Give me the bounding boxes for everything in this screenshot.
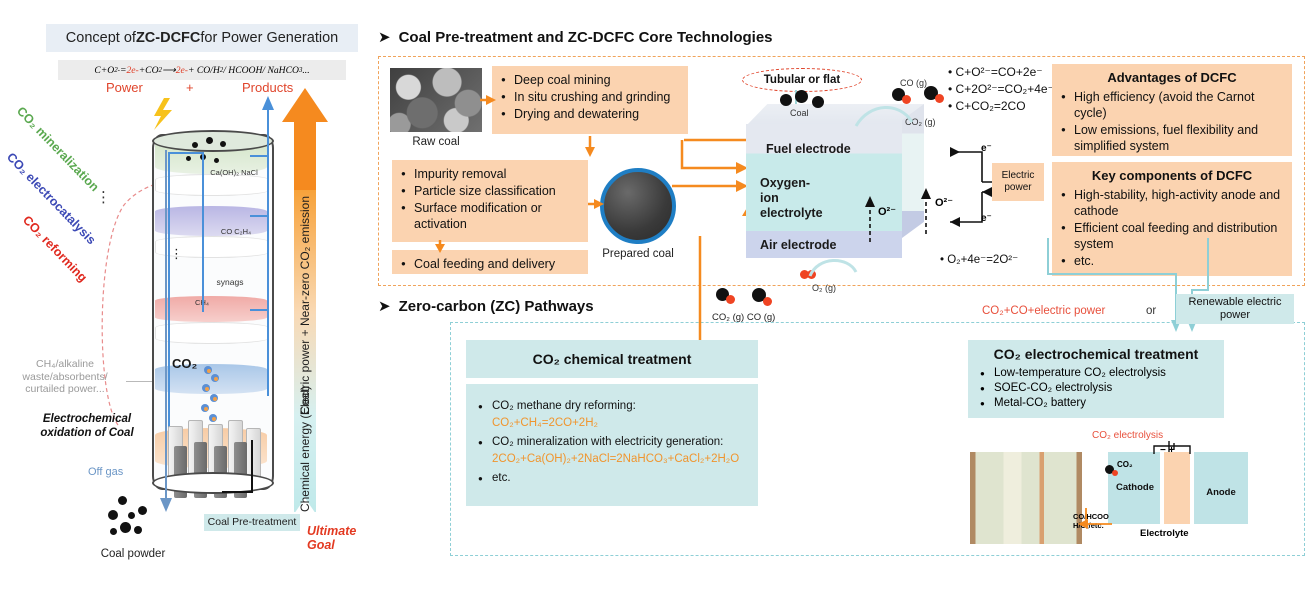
list-item: Metal-CO₂ battery [994, 396, 1216, 411]
coal-particle [780, 94, 792, 106]
o2-gas-label: O₂ (g) [812, 283, 836, 293]
advantages-box: Advantages of DCFC High efficiency (avoi… [1052, 64, 1292, 156]
electrolyte-compartment [1164, 452, 1190, 524]
eq-p3: +CO [139, 65, 159, 76]
raw-coal-image [390, 68, 482, 132]
eq-p6: ... [302, 65, 309, 76]
fuel-electrode-label: Fuel electrode [766, 142, 851, 156]
co2-molecule [201, 404, 209, 412]
eq-red1: 2e- [126, 65, 138, 76]
co2-molecule [204, 366, 212, 374]
section2-heading: ➤Zero-carbon (ZC) Pathways [378, 297, 594, 315]
list-item: High efficiency (avoid the Carnot cycle) [1074, 89, 1284, 121]
offgas-label: Off gas [88, 466, 123, 478]
ellipsis-left: ⋮ [96, 196, 111, 200]
coal-powder-label: Coal powder [78, 548, 188, 560]
coal-dot [220, 141, 226, 147]
coal-particle [812, 96, 824, 108]
concept-title: Concept of ZC-DCFC for Power Generation [46, 24, 358, 52]
electric-power-box: Electric power [992, 163, 1044, 201]
power-label: Power [106, 80, 143, 95]
electrochemical-oxidation-note: Electrochemical oxidation of Coal [28, 412, 146, 440]
feeding-bullets-box: Coal feeding and delivery [392, 250, 588, 274]
eq-p5: / HCOOH/ NaHCO [223, 65, 299, 76]
anode-label: Anode [1196, 487, 1246, 498]
co2-co-electric-power-label: CO₂+CO+electric power [982, 305, 1105, 317]
list-item: Low-temperature CO₂ electrolysis [994, 366, 1216, 381]
co2-molecule [209, 414, 217, 422]
arrow-rawcoal-to-mining [480, 92, 498, 108]
concept-title-suffix: for Power Generation [200, 30, 338, 46]
equation-line: • C+O²⁻=CO+2e⁻ [948, 64, 1054, 81]
products-arrow [256, 96, 280, 396]
product-outlet-arrow [1060, 500, 1116, 530]
list-item: Deep coal mining [514, 72, 680, 88]
co2-molecule [211, 374, 219, 382]
list-item: SOEC-CO₂ electrolysis [994, 381, 1216, 396]
arrow-mining-to-impurity [582, 136, 598, 158]
cathode-label: Cathode [1112, 482, 1158, 493]
list-item: Low emissions, fuel flexibility and simp… [1074, 122, 1284, 154]
arrow-impurity-to-feeding [432, 240, 448, 254]
coal-dot [214, 158, 219, 163]
cell-coal-label: Coal [790, 108, 809, 118]
eq-red2: 2e- [176, 65, 188, 76]
zone-label-synags: synags [206, 278, 254, 287]
energy-arrow-bottom-text: Chemical energy (Coal) [298, 386, 312, 512]
air-electrode-label: Air electrode [760, 238, 836, 252]
item-equation: 2CO₂+Ca(OH)₂+2NaCl=2NaHCO₃+CaCl₂+2H₂O [492, 451, 748, 468]
recycle-pipe [202, 152, 204, 312]
co2-electrochemical-treatment-box: CO₂ electrochemical treatment Low-temper… [968, 340, 1224, 418]
arrow-impurity-to-prepared [588, 196, 606, 212]
ultimate-goal-label: Ultimate Goal [307, 524, 372, 552]
overall-equation: C+O2-=2e-+CO2 ⟶ 2e- + CO/H2/ HCOOH/ NaHC… [58, 60, 346, 80]
plus-label: + [186, 80, 194, 95]
energy-arrow-head [282, 88, 328, 196]
or-label: or [1146, 305, 1156, 317]
raw-coal-label: Raw coal [386, 136, 486, 148]
coal-powder-cluster [104, 494, 168, 546]
co2-co-outlet-label: CO₂ (g) CO (g) [712, 312, 775, 323]
list-item: In situ crushing and grinding [514, 89, 680, 105]
o2-ion-label-a: O²⁻ [878, 205, 896, 218]
oxygen-ion-electrolyte-label: Oxygen-ionelectrolyte [760, 176, 823, 221]
zone-label-caoh-nacl: Ca(OH)₂ NaCl [210, 168, 258, 177]
equation-line: • C+2O²⁻=CO₂+4e⁻ [948, 81, 1054, 98]
advantages-title: Advantages of DCFC [1060, 70, 1284, 86]
lightning-icon [148, 98, 182, 132]
prepared-coal-label: Prepared coal [596, 248, 680, 261]
coal-pretreatment-label: Coal Pre-treatment [204, 514, 300, 531]
ch4-alkaline-note: CH₄/alkaline waste/absorbents/ curtailed… [4, 358, 126, 396]
equation-line: • C+CO₂=2CO [948, 98, 1054, 115]
co2-inlet-label: CO₂ [1117, 460, 1133, 469]
concept-title-prefix: Concept of [66, 30, 136, 46]
co-gas-label: CO (g) [900, 78, 927, 88]
circuit-symbol [1150, 440, 1206, 460]
list-item: High-stability, high-activity anode and … [1074, 187, 1284, 219]
concept-title-bold: ZC-DCFC [136, 30, 200, 46]
item-text: CO₂ mineralization with electricity gene… [492, 436, 723, 448]
coal-dot [192, 142, 198, 148]
o2-curve [806, 252, 862, 280]
eq-arrow: ⟶ [162, 65, 176, 76]
zone-label-co-c2h4: CO C₂H₄ [216, 227, 256, 236]
o2-ion-arrow-a [862, 196, 878, 244]
list-item: Particle size classification [414, 183, 580, 199]
prepared-coal-image [600, 168, 676, 244]
electrolyte-label: Electrolyte [1140, 528, 1189, 539]
cathode-equation: • O₂+4e⁻=2O²⁻ [940, 252, 1018, 266]
section1-heading-text: Coal Pre-treatment and ZC-DCFC Core Tech… [399, 29, 773, 46]
co2-electrochemical-treatment-title: CO₂ electrochemical treatment [976, 346, 1216, 362]
mineralization-cell-illustration [970, 452, 1082, 544]
anode-equations: • C+O²⁻=CO+2e⁻ • C+2O²⁻=CO₂+4e⁻ • C+CO₂=… [948, 64, 1054, 115]
list-item: CO₂ methane dry reforming: CO₂+CH₄=2CO+2… [492, 398, 748, 432]
list-item: etc. [492, 470, 748, 487]
energy-arrow-top-text: Electric power + Near-zero CO₂ emission [298, 196, 312, 415]
list-item: CO₂ mineralization with electricity gene… [492, 434, 748, 468]
item-text: CO₂ methane dry reforming: [492, 400, 636, 412]
concept-panel: Concept of ZC-DCFC for Power Generation … [0, 0, 372, 596]
coal-particle [795, 90, 808, 103]
eq-p4: + CO/H [188, 65, 220, 76]
impurity-bullets-box: Impurity removal Particle size classific… [392, 160, 588, 242]
co2-chemical-treatment-body: CO₂ methane dry reforming: CO₂+CH₄=2CO+2… [466, 384, 758, 506]
list-item: Impurity removal [414, 166, 580, 182]
item-equation: CO₂+CH₄=2CO+2H₂ [492, 415, 748, 432]
co2-chemical-treatment-title: CO₂ chemical treatment [466, 340, 758, 378]
electron-label-top: e⁻ [981, 143, 992, 154]
gas-curve [856, 100, 916, 130]
section2-heading-text: Zero-carbon (ZC) Pathways [399, 298, 594, 315]
co2-molecule [202, 384, 210, 392]
arrow-to-fuel-electrode [672, 140, 754, 210]
key-components-title: Key components of DCFC [1060, 168, 1284, 184]
list-item: Surface modification or activation [414, 200, 580, 232]
list-item: Coal feeding and delivery [414, 256, 580, 272]
offgas-arrow [150, 150, 190, 550]
renewable-power-label: Renewable electric power [1176, 294, 1294, 324]
coal-dot [206, 137, 213, 144]
co2-molecule [210, 394, 218, 402]
mining-bullets-box: Deep coal mining In situ crushing and gr… [492, 66, 688, 134]
eq-p1: C+O [94, 65, 114, 76]
bullet-arrow-icon: ➤ [378, 298, 391, 315]
bullet-arrow-icon: ➤ [378, 29, 391, 46]
section1-heading: ➤Coal Pre-treatment and ZC-DCFC Core Tec… [378, 28, 773, 46]
tubular-or-flat-label: Tubular or flat [742, 68, 862, 92]
list-item: Drying and dewatering [514, 106, 680, 122]
electron-label-bottom: e⁻ [981, 213, 992, 224]
